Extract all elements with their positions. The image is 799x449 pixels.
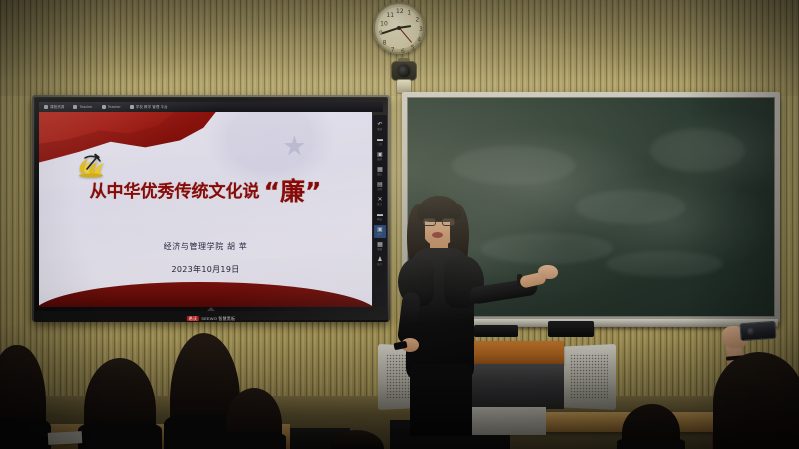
os-topbar-item[interactable]: Teacher (73, 105, 92, 109)
clock-numeral: 10 (380, 21, 388, 28)
display-brand-bar: 希沃 SEEWO 智慧黑板 (34, 311, 388, 322)
menu-icon (44, 105, 48, 109)
photographer-hair (713, 352, 799, 449)
speaker-right (562, 344, 616, 410)
toolbar-undo-icon[interactable]: ↶撤销 (374, 120, 386, 133)
display-brand-logo: 希沃 SEEWO 智慧黑板 (187, 316, 235, 321)
toolbar-pen-tray-icon[interactable]: ▬工具 (374, 135, 386, 148)
presentation-slide: 从中华优秀传统文化说“廉” 经济与管理学院 胡 苹 2023年10月19日 (39, 112, 372, 307)
clock-icon (130, 105, 134, 109)
clock-numeral: 11 (386, 12, 394, 19)
student-shoulders (617, 438, 684, 449)
list-item (226, 388, 282, 449)
wall-clock: 12 1 2 3 4 5 6 7 8 9 10 11 (373, 2, 425, 54)
clock-numeral: 5 (411, 44, 415, 51)
tool-label: 应用 (378, 188, 383, 191)
slide-title-main: 从中华优秀传统文化说 (90, 182, 260, 202)
clock-numeral: 2 (415, 16, 419, 23)
clock-numeral: 8 (383, 40, 387, 47)
paper-sheet-on-desk (48, 431, 83, 445)
slide-title: 从中华优秀传统文化说“廉” (39, 182, 372, 202)
clock-numeral: 3 (419, 26, 423, 33)
folder-icon (73, 105, 77, 109)
smart-whiteboard-display[interactable]: 从中华优秀传统文化说“廉” 经济与管理学院 胡 苹 2023年10月19日 课程… (32, 95, 390, 322)
toolbar-eraser-icon[interactable]: ▬橡皮 (374, 210, 386, 223)
toolbar-capture-icon[interactable]: ▣截屏 (374, 150, 386, 163)
os-topbar-item[interactable]: 学校 教学 管理 平台 (130, 105, 168, 109)
speaker-grille (570, 354, 608, 398)
os-topbar-label: 课程资源 (50, 105, 64, 109)
toolbar-slides-icon[interactable]: ▣课件 (374, 225, 386, 238)
toolbar-apps-icon[interactable]: ▤应用 (374, 180, 386, 193)
display-os-topbar[interactable]: 课程资源 Teacher Teacher 学校 教学 管理 平台 (39, 102, 383, 112)
brand-text: SEEWO 智慧黑板 (201, 316, 235, 321)
slide-date: 2023年10月19日 (39, 264, 372, 275)
toolbar-user-icon[interactable]: ♟账号 (374, 255, 386, 268)
hammer-and-sickle-icon (76, 153, 110, 179)
student-shoulders (78, 422, 162, 449)
student-shoulders (0, 418, 51, 449)
teacher-mouth (432, 232, 443, 238)
os-topbar-label: 学校 教学 管理 平台 (136, 105, 168, 109)
slide-bottom-wave (39, 282, 372, 307)
tool-label: 批注 (378, 203, 383, 206)
tool-label: 窗口 (378, 173, 383, 176)
tool-label: 键盘 (378, 248, 383, 251)
student-shoulders (222, 432, 287, 449)
tool-label: 工具 (378, 143, 383, 146)
smartphone-icon (739, 321, 776, 341)
audience-member-photographing (706, 300, 799, 449)
clock-numeral: 1 (407, 10, 411, 17)
toolbar-grid-icon[interactable]: ▦窗口 (374, 165, 386, 178)
list-item (330, 430, 384, 449)
display-ir-sensor-icon (207, 307, 215, 311)
clock-numeral: 12 (396, 8, 404, 15)
tool-label: 账号 (378, 263, 383, 266)
teacher-lower-garment (410, 364, 472, 436)
tool-label: 橡皮 (378, 218, 383, 221)
eyeglass-lens-right (442, 218, 455, 226)
ceiling-camera-icon (390, 58, 418, 94)
slide-title-keyword: “廉” (264, 177, 322, 206)
camera-lens-icon (398, 65, 410, 77)
tool-label: 撤销 (378, 128, 383, 131)
brand-mark: 希沃 (187, 316, 199, 321)
student-hair (330, 430, 384, 449)
list-item (0, 345, 46, 449)
clock-numeral: 7 (391, 46, 395, 53)
clock-center-pin (397, 26, 401, 30)
toolbar-keyboard-icon[interactable]: ▦键盘 (374, 240, 386, 253)
teacher-hand-gesturing (538, 265, 558, 279)
list-item (84, 358, 156, 449)
toolbar-pen-icon[interactable]: ✕批注 (374, 195, 386, 208)
classroom-photo-scene: 12 1 2 3 4 5 6 7 8 9 10 11 (0, 0, 799, 449)
tool-label: 课件 (378, 233, 383, 236)
os-topbar-label: Teacher (79, 105, 92, 109)
os-topbar-item[interactable]: Teacher (102, 105, 121, 109)
os-topbar-item[interactable]: 课程资源 (44, 105, 64, 109)
clock-numeral: 6 (401, 48, 405, 55)
os-topbar-label: Teacher (108, 105, 121, 109)
lecturing-teacher (388, 196, 558, 436)
slide-subtitle: 经济与管理学院 胡 苹 (39, 241, 372, 252)
clock-numeral: 4 (417, 36, 421, 43)
folder-icon (102, 105, 106, 109)
display-tool-rail[interactable]: ↶撤销 ▬工具 ▣截屏 ▦窗口 ▤应用 ✕批注 ▬橡皮 ▣课件 ▦键盘 ♟账号 (373, 115, 387, 306)
phone-camera-lens-icon (747, 327, 756, 336)
eyeglass-lens-left (423, 218, 436, 226)
list-item (622, 404, 680, 449)
tool-label: 截屏 (378, 158, 383, 161)
eyeglasses-icon (423, 218, 455, 226)
